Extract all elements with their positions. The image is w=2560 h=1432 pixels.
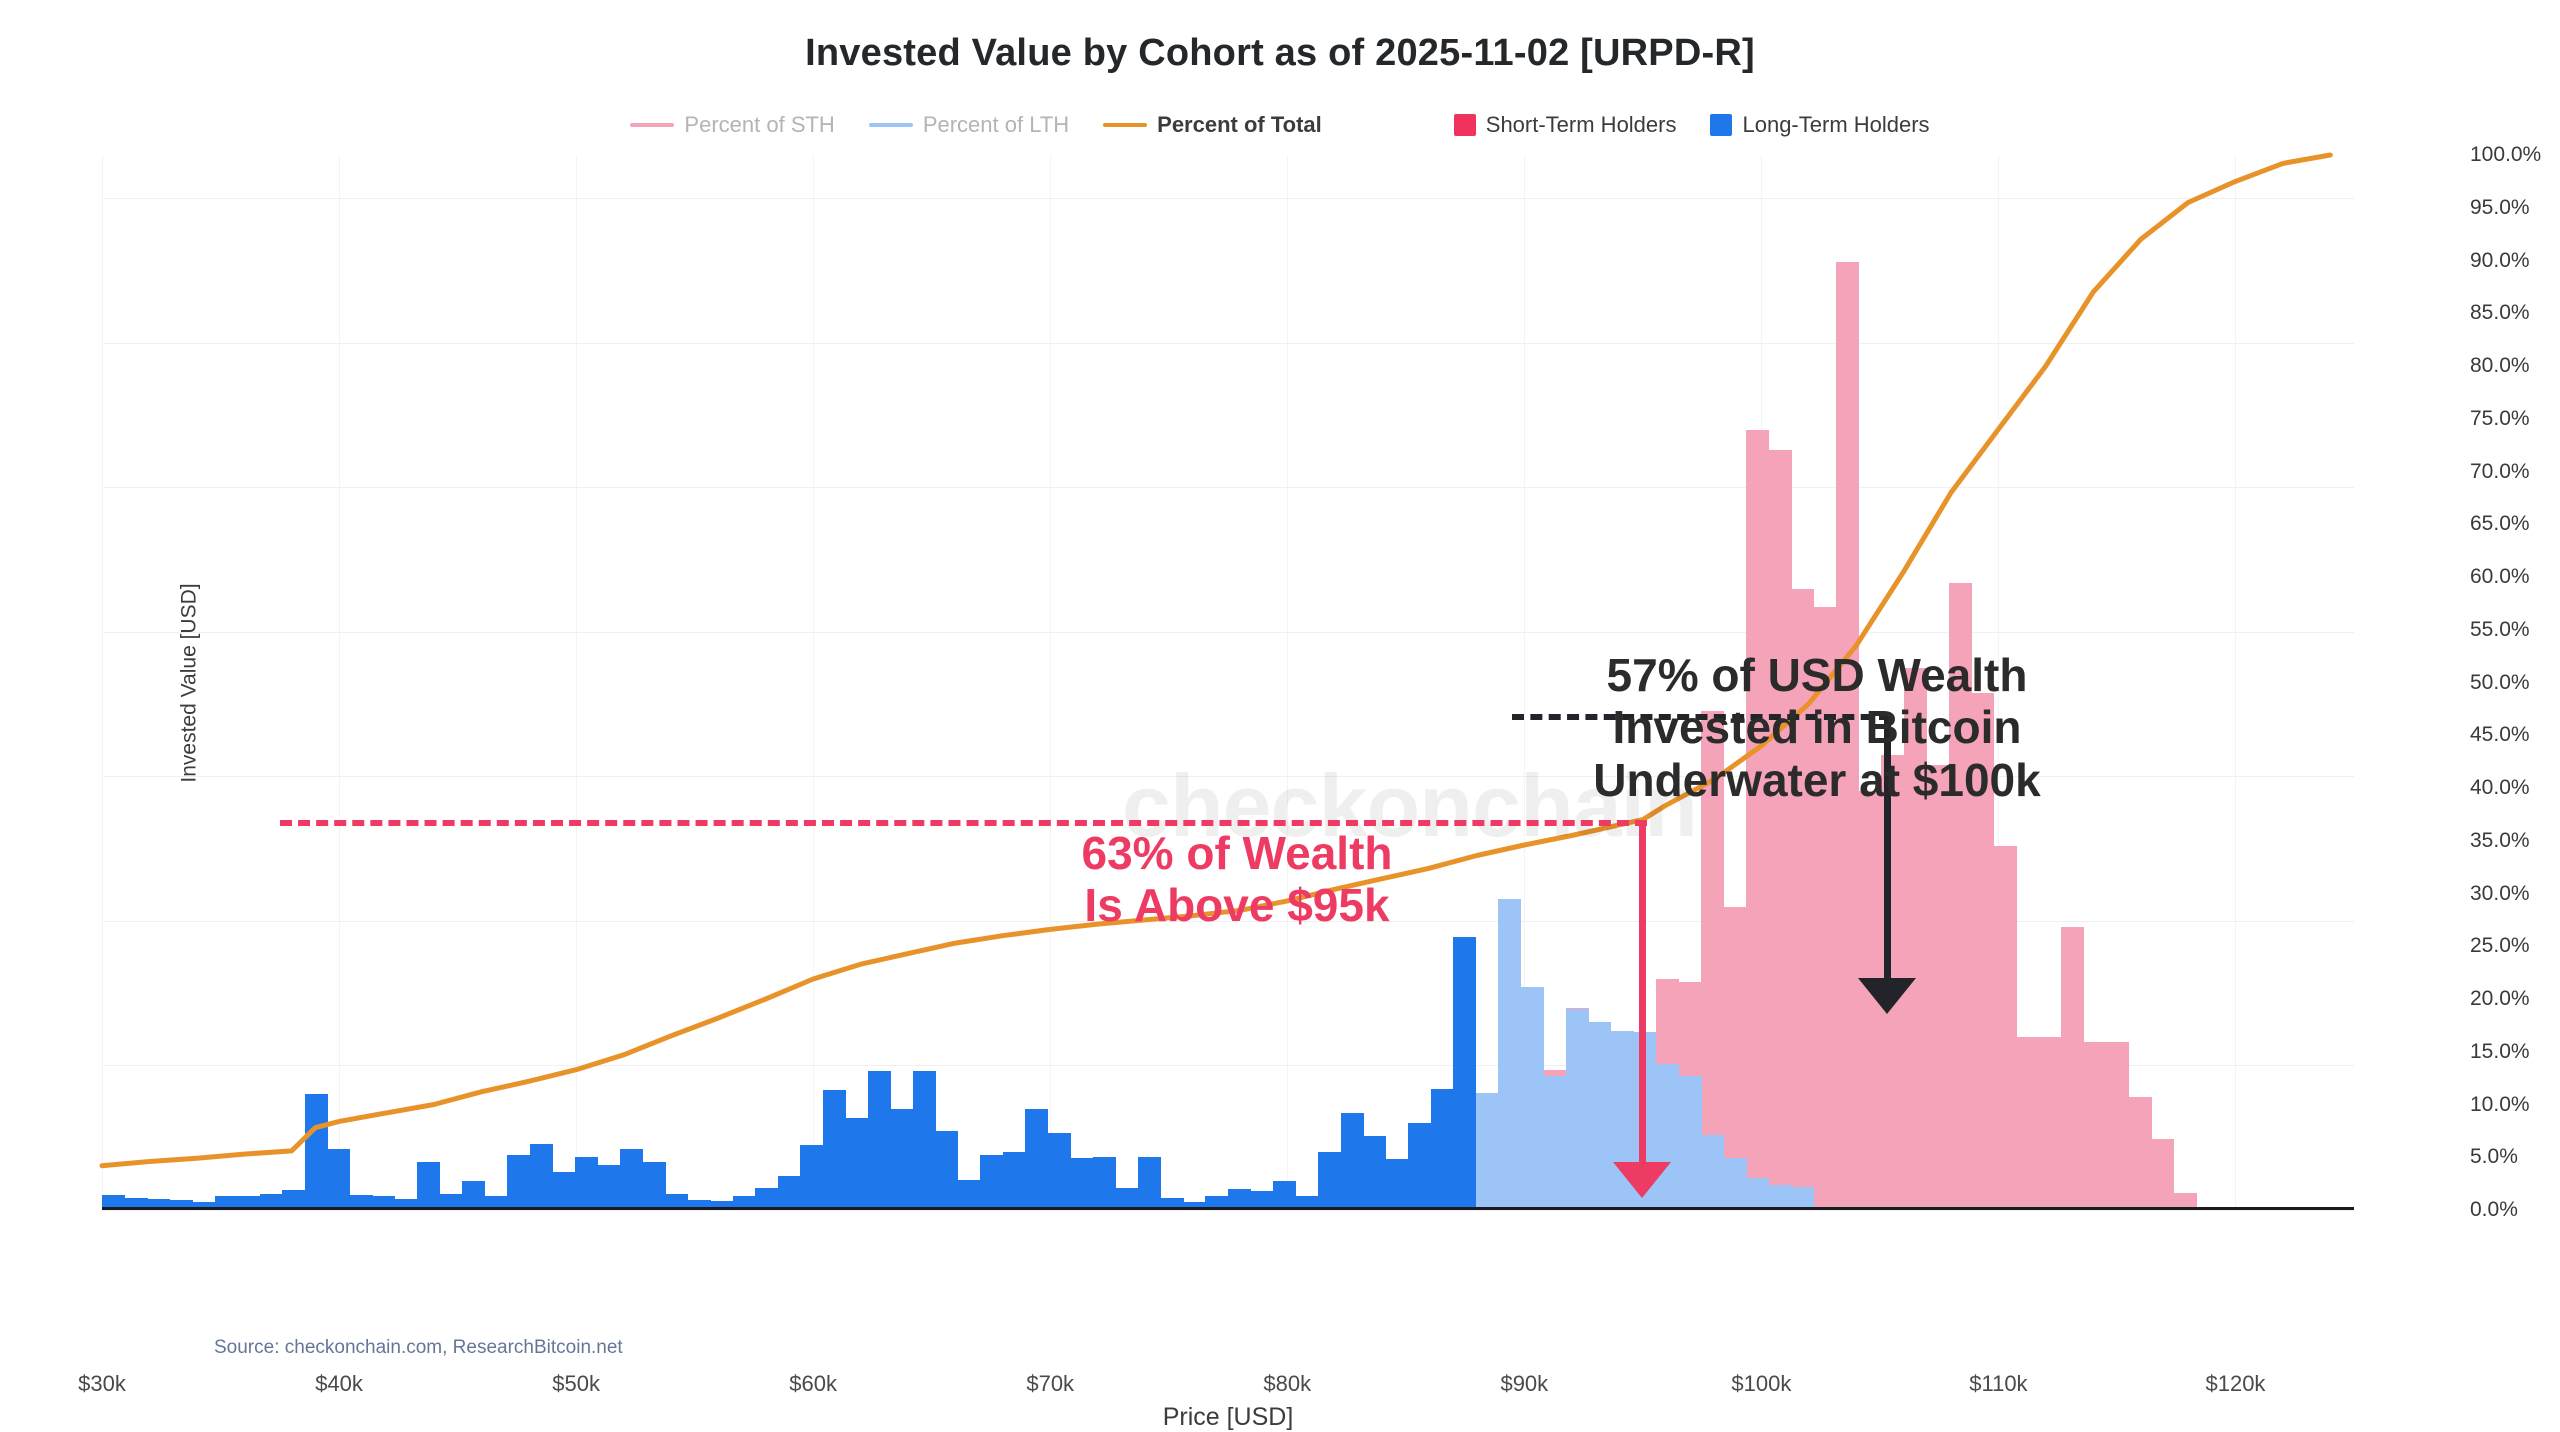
x-axis-tick-label: $80k [1263, 1371, 1311, 1397]
y2-axis-tick-label: 60.0% [2470, 565, 2530, 589]
y2-axis-tick-label: 100.0% [2470, 143, 2541, 167]
legend-line-swatch-sth [630, 123, 674, 127]
legend-swatch-lth [1710, 114, 1732, 136]
y2-axis-tick-label: 90.0% [2470, 249, 2530, 273]
legend-item-percent-sth[interactable]: Percent of STH [630, 112, 834, 138]
legend-line-swatch-total [1103, 123, 1147, 127]
y2-axis-tick-label: 30.0% [2470, 882, 2530, 906]
y2-axis-tick-label: 45.0% [2470, 723, 2530, 747]
plot-area: checkonchain $0$10B$20B$30B$40B$50B$60B$… [102, 155, 2354, 1210]
x-axis-tick-label: $30k [78, 1371, 126, 1397]
x-axis-tick-label: $100k [1731, 1371, 1791, 1397]
legend-label-percent-lth: Percent of LTH [923, 112, 1069, 138]
x-axis-tick-label: $120k [2205, 1371, 2265, 1397]
y2-axis-tick-label: 25.0% [2470, 934, 2530, 958]
source-credit: Source: checkonchain.com, ResearchBitcoi… [214, 1337, 623, 1359]
legend-item-percent-lth[interactable]: Percent of LTH [869, 112, 1069, 138]
x-axis-label: Price [USD] [102, 1403, 2354, 1432]
legend-item-lth[interactable]: Long-Term Holders [1710, 112, 1929, 138]
y2-axis-tick-label: 65.0% [2470, 512, 2530, 536]
y2-axis-tick-label: 55.0% [2470, 618, 2530, 642]
legend-label-percent-total: Percent of Total [1157, 112, 1322, 138]
legend-line-group: Percent of STH Percent of LTH Percent of… [630, 112, 1321, 138]
y2-axis-tick-label: 70.0% [2470, 460, 2530, 484]
x-axis-tick-label: $70k [1026, 1371, 1074, 1397]
legend-line-swatch-lth [869, 123, 913, 127]
annotation-black-arrow-head [1858, 978, 1916, 1014]
legend-patch-group: Short-Term Holders Long-Term Holders [1454, 112, 1930, 138]
x-axis-tick-label: $110k [1969, 1371, 2027, 1397]
annotation-black-text: 57% of USD Wealth Invested in Bitcoin Un… [1517, 649, 2117, 806]
annotation-pink-arrow-shaft [1639, 820, 1646, 1162]
y2-axis-tick-label: 80.0% [2470, 354, 2530, 378]
annotation-pink-dashline [280, 820, 1647, 826]
y2-axis-tick-label: 5.0% [2470, 1145, 2518, 1169]
y2-axis-tick-label: 10.0% [2470, 1093, 2530, 1117]
chart-page: Invested Value by Cohort as of 2025-11-0… [0, 0, 2560, 1285]
y2-axis-tick-label: 0.0% [2470, 1198, 2518, 1222]
y2-axis-tick-label: 95.0% [2470, 196, 2530, 220]
legend-item-sth[interactable]: Short-Term Holders [1454, 112, 1677, 138]
legend-label-lth: Long-Term Holders [1742, 112, 1929, 138]
chart-legend: Percent of STH Percent of LTH Percent of… [0, 112, 2560, 138]
x-axis-line [102, 1207, 2354, 1210]
gridline-horizontal [102, 1210, 2354, 1211]
y2-axis-tick-label: 35.0% [2470, 829, 2530, 853]
legend-swatch-sth [1454, 114, 1476, 136]
annotation-pink-text: 63% of Wealth Is Above $95k [1007, 827, 1467, 932]
y2-axis-tick-label: 85.0% [2470, 301, 2530, 325]
y2-axis-tick-label: 75.0% [2470, 407, 2530, 431]
y2-axis-tick-label: 20.0% [2470, 987, 2530, 1011]
page-title: Invested Value by Cohort as of 2025-11-0… [0, 32, 2560, 75]
x-axis-tick-label: $60k [789, 1371, 837, 1397]
x-axis-tick-label: $50k [552, 1371, 600, 1397]
annotation-pink-arrow-head [1613, 1162, 1671, 1198]
legend-item-percent-total[interactable]: Percent of Total [1103, 112, 1322, 138]
legend-label-percent-sth: Percent of STH [684, 112, 834, 138]
x-axis-tick-label: $90k [1500, 1371, 1548, 1397]
x-axis-tick-label: $40k [315, 1371, 363, 1397]
y2-axis-tick-label: 15.0% [2470, 1040, 2530, 1064]
y2-axis-tick-label: 50.0% [2470, 671, 2530, 695]
y2-axis-tick-label: 40.0% [2470, 776, 2530, 800]
y-axis-left-label: Invested Value [USD] [178, 583, 202, 782]
legend-label-sth: Short-Term Holders [1486, 112, 1677, 138]
